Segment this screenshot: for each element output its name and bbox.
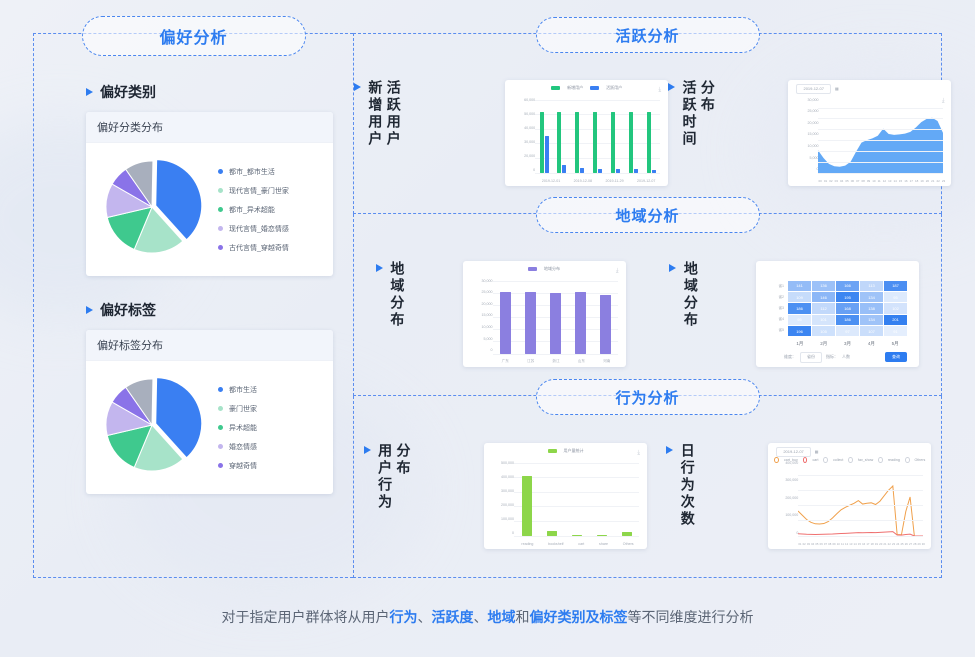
x-tick-label: 08 <box>828 542 831 546</box>
bar <box>622 532 632 536</box>
vertical-label-group: 日行为次数 <box>679 443 756 528</box>
legend-label: 婚恋情感 <box>229 442 257 452</box>
bar <box>593 112 597 173</box>
section-pill-label: 行为分析 <box>615 387 679 408</box>
bar <box>652 170 656 173</box>
heatmap-cell[interactable]: 186 <box>836 315 859 325</box>
x-tick-label: 17 <box>866 542 869 546</box>
subsection-label: 偏好类别 <box>100 82 156 102</box>
y-tick-label: 15,000 <box>467 313 493 317</box>
legend-color-dot <box>218 226 223 231</box>
x-tick-label: share <box>599 542 608 546</box>
y-tick-label: 省5 <box>762 328 784 333</box>
y-tick-label: 省1 <box>762 284 784 289</box>
behavior-analysis-panel: 行为分析 用户行为 分布 用户量统计⤓500,000400,000300,000… <box>353 396 942 578</box>
download-icon[interactable]: ⤓ <box>616 268 619 275</box>
calendar-icon[interactable]: ▦ <box>835 86 839 91</box>
y-tick-label: 60,000 <box>509 98 535 102</box>
x-tick-label: 20 <box>879 542 882 546</box>
heatmap-cell[interactable]: 136 <box>812 281 835 291</box>
x-tick-label: 23 <box>942 179 945 183</box>
x-axis: 广东江苏浙江山东河南 <box>493 359 620 364</box>
caption-highlight-behavior: 行为 <box>390 609 418 625</box>
triangle-bullet-icon <box>364 446 371 454</box>
legend-item: 都市_异术超能 <box>218 205 289 215</box>
vertical-label-group: 新增用户 活跃用户 <box>367 80 493 148</box>
vertical-label-group: 用户行为 分布 <box>377 443 472 511</box>
heatmap-cell[interactable]: 109 <box>788 292 811 302</box>
item-new-active-users: 新增用户 活跃用户 新增用户活跃用户⤓60,00050,00040,00030,… <box>354 80 668 186</box>
vertical-label: 地域分布 <box>682 261 697 329</box>
x-tick-label: 02 <box>803 542 806 546</box>
heatmap-y-labels: 省1省2省3省4省5 <box>762 281 784 337</box>
heatmap-cell[interactable]: 112 <box>812 303 835 313</box>
plot-area <box>798 475 923 536</box>
triangle-bullet-icon <box>666 446 673 454</box>
legend-item: 现代言情_婚恋情感 <box>218 224 289 234</box>
x-axis: readingbookshelfcartshareOthers <box>514 542 641 546</box>
caption-sep: 、 <box>418 609 432 625</box>
y-tick-label: 200,000 <box>772 496 798 500</box>
heatmap-cell[interactable]: 91 <box>884 326 907 336</box>
vertical-label: 地域分布 <box>389 261 404 329</box>
x-tick-label: 18 <box>915 179 918 183</box>
legend-color-dot <box>218 425 223 430</box>
heatmap-cell[interactable]: 138 <box>860 303 883 313</box>
card-body: 都市生活豪门世家异术超能婚恋情感穿越奇情 <box>86 361 333 494</box>
bar-series <box>514 463 639 536</box>
x-tick-label: 19 <box>920 179 923 183</box>
x-tick-label: 11 <box>878 179 881 183</box>
y-tick-label: 10,000 <box>792 144 818 148</box>
legend-swatch <box>590 86 599 90</box>
gridline <box>798 475 923 476</box>
y-tick-label: 5,000 <box>467 337 493 341</box>
caption-highlight-activity: 活跃度 <box>432 609 474 625</box>
bar <box>550 293 561 354</box>
heatmap-cell[interactable]: 101 <box>812 315 835 325</box>
date-filter[interactable]: 2019-12-07▦ <box>776 447 818 457</box>
gridline <box>798 536 923 537</box>
gridline <box>535 173 660 174</box>
x-tick-label: 22 <box>888 542 891 546</box>
heatmap-cell[interactable]: 196 <box>788 326 811 336</box>
region-analysis-panel: 地域分析 地域分布 地域分布⤓30,00025,00020,00015,0001… <box>353 214 942 396</box>
calendar-icon[interactable]: ▦ <box>815 449 819 454</box>
item-region-heatmap: 地域分布 省1省2省3省4省51411361661131871091461951… <box>669 261 919 367</box>
legend-label: fav_show <box>858 458 873 462</box>
heatmap-cell[interactable]: 95 <box>788 315 811 325</box>
legend-swatch <box>548 449 557 453</box>
heatmap-cell[interactable]: 134 <box>860 315 883 325</box>
x-tick-label: 1月 <box>796 341 803 347</box>
date-filter[interactable]: 2019-12-07▦ <box>796 84 838 94</box>
y-tick-label: 20,000 <box>467 302 493 306</box>
y-tick-label: 400,000 <box>488 475 514 479</box>
caption-sep: 、 <box>474 609 488 625</box>
legend-swatch <box>528 267 537 271</box>
x-tick-label: 14 <box>854 542 857 546</box>
chart-region-distribution-bar[interactable]: 地域分布⤓30,00025,00020,00015,00010,0005,000… <box>463 261 626 367</box>
section-pill-label: 地域分析 <box>615 205 679 226</box>
triangle-bullet-icon <box>354 83 361 91</box>
legend-color-dot <box>218 444 223 449</box>
y-tick-label: 25,000 <box>792 109 818 113</box>
legend-label: collect <box>833 458 843 462</box>
gridline <box>818 162 943 163</box>
card-title: 偏好标签分布 <box>86 330 333 361</box>
subsection-heading-category: 偏好类别 <box>86 82 353 102</box>
legend-label: 新增用户 <box>567 85 583 91</box>
x-tick-label: 21 <box>931 179 934 183</box>
x-tick-label: 4月 <box>868 341 875 347</box>
vertical-label-group: 地域分布 <box>389 261 451 329</box>
x-tick-label: 25 <box>900 542 903 546</box>
x-tick-label: 23 <box>892 542 895 546</box>
legend-label: 古代言情_穿越奇情 <box>229 243 289 253</box>
x-tick-label: 01 <box>798 542 801 546</box>
download-icon[interactable]: ⤓ <box>942 98 945 105</box>
plot-area <box>818 108 943 173</box>
download-icon[interactable]: ⤓ <box>637 450 640 457</box>
bar <box>575 292 586 354</box>
heatmap-cell[interactable]: 187 <box>884 281 907 291</box>
legend-label: 豪门世家 <box>229 404 257 414</box>
legend-color-dot[interactable] <box>905 457 910 463</box>
bar <box>525 292 536 353</box>
heatmap-cell[interactable]: 95 <box>884 292 907 302</box>
heatmap-cell[interactable]: 97 <box>836 326 859 336</box>
item-region-bar: 地域分布 地域分布⤓30,00025,00020,00015,00010,000… <box>376 261 626 367</box>
triangle-bullet-icon <box>668 83 675 91</box>
y-tick-label: 100,000 <box>488 517 514 521</box>
triangle-bullet-icon <box>669 264 676 272</box>
legend-item: 豪门世家 <box>218 404 257 414</box>
bar <box>522 476 532 536</box>
x-tick-label: 江苏 <box>527 359 534 364</box>
bar <box>629 112 633 173</box>
y-tick-label: 0 <box>488 531 514 535</box>
vertical-label: 日行为次数 <box>679 443 694 528</box>
x-tick-label: 16 <box>862 542 865 546</box>
y-axis: 500,000400,000300,000200,000100,0000 <box>488 461 514 535</box>
heatmap-cell[interactable]: 105 <box>812 326 835 336</box>
x-tick-label: 11 <box>841 542 844 546</box>
legend-label: Others <box>915 458 926 462</box>
heatmap-cell[interactable]: 166 <box>836 281 859 291</box>
legend-label: 用户量统计 <box>564 448 584 454</box>
triangle-bullet-icon <box>376 264 383 272</box>
gridline <box>818 151 943 152</box>
heatmap-cell[interactable]: 195 <box>836 292 859 302</box>
caption-highlight-preference: 偏好类别及标签 <box>530 609 628 625</box>
x-tick-label: 02 <box>829 179 832 183</box>
section-pill-label: 活跃分析 <box>615 25 679 46</box>
caption-highlight-region: 地域 <box>488 609 516 625</box>
bar <box>647 112 651 173</box>
y-tick-label: 省4 <box>762 317 784 322</box>
y-tick-label: 省2 <box>762 295 784 300</box>
plot-area <box>514 463 639 536</box>
x-tick-label: 5月 <box>892 341 899 347</box>
bar <box>562 165 566 173</box>
y-tick-label: 15,000 <box>792 132 818 136</box>
section-pill-region: 地域分析 <box>536 197 760 233</box>
x-tick-label: 15 <box>858 542 861 546</box>
preference-analysis-panel: 偏好分析 偏好类别 偏好分类分布 都市_都市生活现代言情_豪门世家都市_异术超能… <box>33 33 353 578</box>
gridline <box>798 490 923 491</box>
x-tick-label: 2019-11-29 <box>605 179 623 183</box>
legend-color-dot <box>218 406 223 411</box>
chart-new-active-users[interactable]: 新增用户活跃用户⤓60,00050,00040,00030,00020,0000… <box>505 80 668 186</box>
item-daily-behavior: 日行为次数 2019-12-07▦cart_buycartcollectfav_… <box>666 443 931 549</box>
plot-area <box>493 281 618 354</box>
y-tick-label: 5,000 <box>792 156 818 160</box>
y-tick-label: 30,000 <box>792 98 818 102</box>
y-tick-label: 400,000 <box>772 461 798 465</box>
y-tick-label: 50,000 <box>509 112 535 116</box>
legend-label: reading <box>888 458 900 462</box>
chart-active-time-distribution[interactable]: 2019-12-07▦⤓30,00025,00020,00015,00010,0… <box>788 80 951 186</box>
heatmap-cell[interactable]: 107 <box>860 326 883 336</box>
pie-legend-category: 都市_都市生活现代言情_豪门世家都市_异术超能现代言情_婚恋情感古代言情_穿越奇… <box>218 167 289 253</box>
vertical-label: 活跃时间 <box>681 80 696 148</box>
vertical-label: 活跃用户 <box>385 80 400 148</box>
bar <box>545 136 549 173</box>
card-preference-tag: 偏好标签分布 都市生活豪门世家异术超能婚恋情感穿越奇情 <box>86 330 333 494</box>
y-tick-label: 500,000 <box>488 461 514 465</box>
y-axis: 30,00025,00020,00015,00010,0005,0000 <box>792 98 818 172</box>
x-tick-label: 17 <box>910 179 913 183</box>
legend-color-dot <box>218 387 223 392</box>
x-tick-label: 10 <box>837 542 840 546</box>
x-tick-label: 3月 <box>844 341 851 347</box>
pie-svg <box>96 369 208 481</box>
bar-group <box>575 100 584 173</box>
y-tick-label: 40,000 <box>509 126 535 130</box>
x-tick-label: 2019-12-08 <box>574 179 592 183</box>
bar-group <box>629 100 638 173</box>
x-tick-label: 20 <box>926 179 929 183</box>
x-tick-label: bookshelf <box>548 542 563 546</box>
legend-color-dot[interactable] <box>803 457 808 463</box>
bar-group <box>593 100 602 173</box>
caption-post: 等不同维度进行分析 <box>628 609 754 625</box>
heatmap-cell[interactable]: 168 <box>836 303 859 313</box>
bar <box>575 112 579 173</box>
legend-color-dot[interactable] <box>878 457 883 463</box>
x-tick-label: Others <box>623 542 634 546</box>
heatmap-cell[interactable]: 134 <box>860 292 883 302</box>
section-pill-behavior: 行为分析 <box>536 379 760 415</box>
chart-legend: 新增用户活跃用户 <box>505 85 668 91</box>
region-analysis-body: 地域分布 地域分布⤓30,00025,00020,00015,00010,000… <box>354 214 941 395</box>
x-tick-label: 2月 <box>820 341 827 347</box>
card-preference-category: 偏好分类分布 都市_都市生活现代言情_豪门世家都市_异术超能现代言情_婚恋情感古… <box>86 112 333 276</box>
x-tick-label: 27 <box>909 542 912 546</box>
x-tick-label: 05 <box>845 179 848 183</box>
legend-color-dot[interactable] <box>848 457 853 463</box>
y-tick-label: 20,000 <box>509 154 535 158</box>
caption-sep: 和 <box>516 609 530 625</box>
x-tick-label: 05 <box>815 542 818 546</box>
legend-item: 都市生活 <box>218 385 257 395</box>
download-icon[interactable]: ⤓ <box>658 87 661 94</box>
gridline <box>818 173 943 174</box>
active-analysis-body: 新增用户 活跃用户 新增用户活跃用户⤓60,00050,00040,00030,… <box>354 34 941 213</box>
legend-color-dot <box>218 188 223 193</box>
date-filter-value[interactable]: 2019-12-07 <box>776 447 810 457</box>
y-tick-label: 0 <box>772 531 798 535</box>
vertical-label: 新增用户 <box>367 80 382 148</box>
chart-legend: 用户量统计 <box>484 448 647 454</box>
item-active-time: 活跃时间 分布 2019-12-07▦⤓30,00025,00020,00015… <box>668 80 951 186</box>
caption-pre: 对于指定用户群体将从用户 <box>222 609 390 625</box>
heatmap-cell[interactable]: 141 <box>788 281 811 291</box>
bar <box>547 531 557 535</box>
legend-label: 穿越奇情 <box>229 461 257 471</box>
y-axis: 60,00050,00040,00030,00020,0000 <box>509 98 535 172</box>
x-tick-label: 14 <box>894 179 897 183</box>
legend-label: 活跃用户 <box>606 85 622 91</box>
legend-color-dot[interactable] <box>823 457 828 463</box>
bar-series <box>493 281 618 354</box>
x-tick-label: 山东 <box>578 359 585 364</box>
card-title: 偏好分类分布 <box>86 112 333 143</box>
control-label: 指标： <box>826 354 838 360</box>
triangle-bullet-icon <box>86 88 93 96</box>
y-tick-label: 20,000 <box>792 121 818 125</box>
legend-label: 都市_异术超能 <box>229 205 275 215</box>
y-tick-label: 25,000 <box>467 290 493 294</box>
section-pill-active: 活跃分析 <box>536 17 760 53</box>
x-tick-label: 29 <box>918 542 921 546</box>
legend-label: 地域分布 <box>544 266 560 272</box>
bar-group <box>557 100 566 173</box>
y-axis: 30,00025,00020,00015,00010,0005,0000 <box>467 279 493 353</box>
y-tick-label: 省3 <box>762 306 784 311</box>
vertical-label-group: 地域分布 <box>682 261 744 329</box>
metric-value[interactable]: 人数 <box>842 354 850 360</box>
x-tick-label: 00 <box>818 179 821 183</box>
behavior-analysis-body: 用户行为 分布 用户量统计⤓500,000400,000300,000200,0… <box>354 396 941 577</box>
y-tick-label: 100,000 <box>772 513 798 517</box>
legend-label: 都市_都市生活 <box>229 167 275 177</box>
heatmap-cell[interactable]: 201 <box>884 315 907 325</box>
legend-color-dot <box>218 169 223 174</box>
legend-color-dot <box>218 463 223 468</box>
query-button[interactable]: 查询 <box>885 352 907 362</box>
dimension-select[interactable]: 省份 <box>800 352 822 363</box>
legend-label: 异术超能 <box>229 423 257 433</box>
x-axis: 0001020304050607080910111213141516171819… <box>818 179 945 183</box>
x-tick-label: 19 <box>875 542 878 546</box>
active-analysis-panel: 活跃分析 新增用户 活跃用户 新增用户活跃用户⤓60,00050,00040,0… <box>353 33 942 214</box>
footer-caption: 对于指定用户群体将从用户行为、活跃度、地域和偏好类别及标签等不同维度进行分析 <box>0 607 975 627</box>
pie-legend-tag: 都市生活豪门世家异术超能婚恋情感穿越奇情 <box>218 385 257 471</box>
pie-svg <box>96 151 208 263</box>
subsection-heading-tag: 偏好标签 <box>86 300 353 320</box>
x-tick-label: 2019-12-01 <box>542 179 560 183</box>
x-tick-label: cart <box>578 542 584 546</box>
section-pill-preference: 偏好分析 <box>82 16 306 56</box>
right-panels: 活跃分析 新增用户 活跃用户 新增用户活跃用户⤓60,00050,00040,0… <box>353 33 942 578</box>
card-body: 都市_都市生活现代言情_豪门世家都市_异术超能现代言情_婚恋情感古代言情_穿越奇… <box>86 143 333 276</box>
x-tick-label: 04 <box>840 179 843 183</box>
pie-chart-tag <box>96 369 208 486</box>
gridline <box>818 140 943 141</box>
heatmap-cell[interactable]: 146 <box>812 292 835 302</box>
x-tick-label: 21 <box>883 542 886 546</box>
legend-swatch <box>551 86 560 90</box>
diagram-stage: 偏好分析 偏好类别 偏好分类分布 都市_都市生活现代言情_豪门世家都市_异术超能… <box>33 33 942 578</box>
legend-color-dot <box>218 207 223 212</box>
item-user-behavior: 用户行为 分布 用户量统计⤓500,000400,000300,000200,0… <box>364 443 647 549</box>
x-tick-label: 08 <box>861 179 864 183</box>
date-filter-value[interactable]: 2019-12-07 <box>796 84 830 94</box>
x-tick-label: 12 <box>845 542 848 546</box>
gridline <box>493 354 618 355</box>
x-tick-label: 03 <box>835 179 838 183</box>
bar <box>557 112 561 173</box>
x-tick-label: 01 <box>824 179 827 183</box>
x-tick-label: 07 <box>824 542 827 546</box>
x-axis: 2019-12-012019-12-082019-11-292019-12-07 <box>535 179 662 183</box>
x-tick-label: 16 <box>904 179 907 183</box>
legend-item: 都市_都市生活 <box>218 167 289 177</box>
bar <box>600 295 611 354</box>
heatmap-x-labels: 1月2月3月4月5月 <box>788 341 907 347</box>
x-tick-label: 30 <box>922 542 925 546</box>
chart-user-behavior-distribution[interactable]: 用户量统计⤓500,000400,000300,000200,000100,00… <box>484 443 647 549</box>
x-tick-label: 河南 <box>603 359 610 364</box>
gridline <box>798 520 923 521</box>
y-tick-label: 300,000 <box>772 478 798 482</box>
vertical-label: 用户行为 <box>377 443 392 511</box>
bar-group <box>540 100 549 173</box>
legend-item: 婚恋情感 <box>218 442 257 452</box>
vertical-label: 分布 <box>395 443 410 511</box>
x-tick-label: 06 <box>820 542 823 546</box>
heatmap-cell[interactable]: 102 <box>884 303 907 313</box>
control-label: 维度： <box>784 354 796 360</box>
x-tick-label: 广东 <box>502 359 509 364</box>
heatmap-cell[interactable]: 186 <box>788 303 811 313</box>
bar-group <box>611 100 620 173</box>
y-tick-label: 200,000 <box>488 503 514 507</box>
y-tick-label: 0 <box>792 167 818 171</box>
x-tick-label: 07 <box>856 179 859 183</box>
bar-group <box>647 100 656 173</box>
y-tick-label: 30,000 <box>467 279 493 283</box>
heatmap-grid: 1411361661131871091461951349518611216813… <box>788 281 907 337</box>
x-tick-label: 09 <box>832 542 835 546</box>
heatmap-cell[interactable]: 113 <box>860 281 883 291</box>
chart-region-heatmap[interactable]: 省1省2省3省4省5141136166113187109146195134951… <box>756 261 919 367</box>
bar <box>580 168 584 172</box>
vertical-label-group: 活跃时间 分布 <box>681 80 776 148</box>
legend-label: cart <box>812 458 818 462</box>
bar <box>616 169 620 173</box>
y-axis: 400,000300,000200,000100,0000 <box>772 461 798 535</box>
x-tick-label: 22 <box>937 179 940 183</box>
chart-daily-behavior-count[interactable]: 2019-12-07▦cart_buycartcollectfav_showre… <box>768 443 931 549</box>
x-tick-label: 12 <box>883 179 886 183</box>
x-tick-label: 13 <box>888 179 891 183</box>
x-tick-label: 10 <box>872 179 875 183</box>
legend-item: 异术超能 <box>218 423 257 433</box>
x-tick-label: 09 <box>867 179 870 183</box>
